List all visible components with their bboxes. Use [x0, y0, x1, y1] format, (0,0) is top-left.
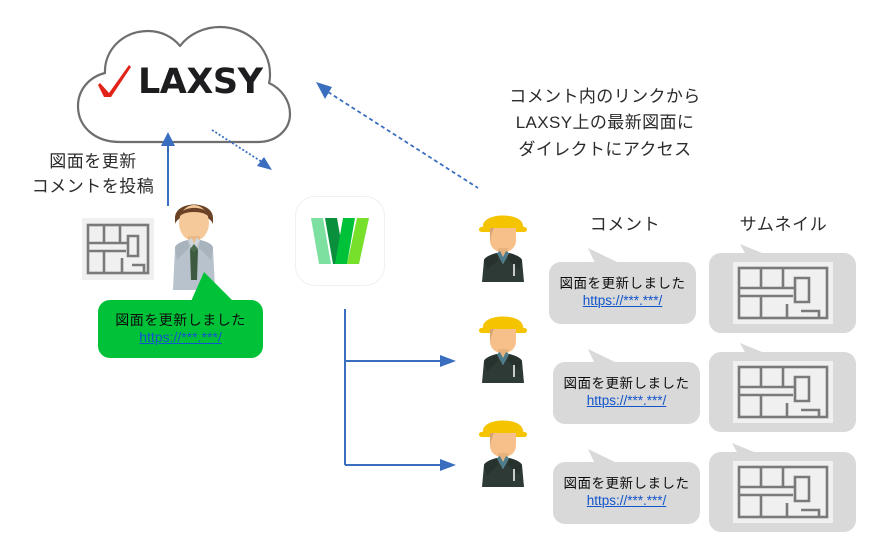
arrow-cloud-to-app	[210, 128, 280, 178]
comment-bubble: 図面を更新しました https://***.***/	[549, 262, 696, 324]
comment-text: 図面を更新しました	[564, 476, 690, 493]
right-caption-line1: コメント内のリンクから	[470, 84, 740, 110]
floor-plan-thumbnail	[733, 262, 833, 324]
construction-worker-avatar	[470, 407, 536, 487]
comment-text: 図面を更新しました	[564, 376, 690, 393]
diagram-canvas: LAXSY 図面を更新 コメントを投稿	[0, 0, 871, 543]
thumbnail-card[interactable]	[709, 352, 856, 432]
posted-comment-text: 図面を更新しました	[115, 312, 246, 330]
arrow-link-to-cloud	[310, 74, 490, 194]
laxsy-wordmark: LAXSY	[138, 65, 262, 100]
comment-bubble: 図面を更新しました https://***.***/	[553, 462, 700, 524]
list-item	[470, 407, 536, 492]
comment-bubble: 図面を更新しました https://***.***/	[553, 362, 700, 424]
floor-plan-thumbnail	[733, 361, 833, 423]
column-header-comment: コメント	[560, 210, 690, 235]
floor-plan-thumbnail	[733, 461, 833, 523]
right-caption-line2: LAXSY上の最新図面に	[470, 110, 740, 136]
posted-comment-link[interactable]: https://***.***/	[139, 329, 222, 347]
laxsy-logo: LAXSY	[98, 58, 263, 106]
comment-link[interactable]: https://***.***/	[587, 393, 667, 410]
w-letter-icon	[309, 216, 371, 266]
left-caption-line1: 図面を更新	[8, 150, 178, 175]
list-item	[470, 202, 536, 287]
thumbnail-card[interactable]	[709, 452, 856, 532]
comment-link[interactable]: https://***.***/	[587, 493, 667, 510]
red-check-icon	[98, 64, 132, 100]
floor-plan-icon	[82, 218, 154, 280]
list-item	[470, 303, 536, 388]
right-caption: コメント内のリンクから LAXSY上の最新図面に ダイレクトにアクセス	[470, 84, 740, 163]
right-caption-line3: ダイレクトにアクセス	[470, 137, 740, 163]
column-header-thumbnail: サムネイル	[716, 210, 851, 235]
thumbnail-card[interactable]	[709, 253, 856, 333]
w-messaging-app-icon[interactable]	[295, 196, 385, 286]
construction-worker-avatar	[470, 303, 536, 383]
arrow-app-to-workers	[338, 305, 468, 480]
left-caption-line2: コメントを投稿	[8, 175, 178, 200]
construction-worker-avatar	[470, 202, 536, 282]
comment-text: 図面を更新しました	[560, 276, 686, 293]
posted-comment-bubble: 図面を更新しました https://***.***/	[98, 300, 263, 358]
comment-link[interactable]: https://***.***/	[583, 293, 663, 310]
left-caption: 図面を更新 コメントを投稿	[8, 150, 178, 199]
